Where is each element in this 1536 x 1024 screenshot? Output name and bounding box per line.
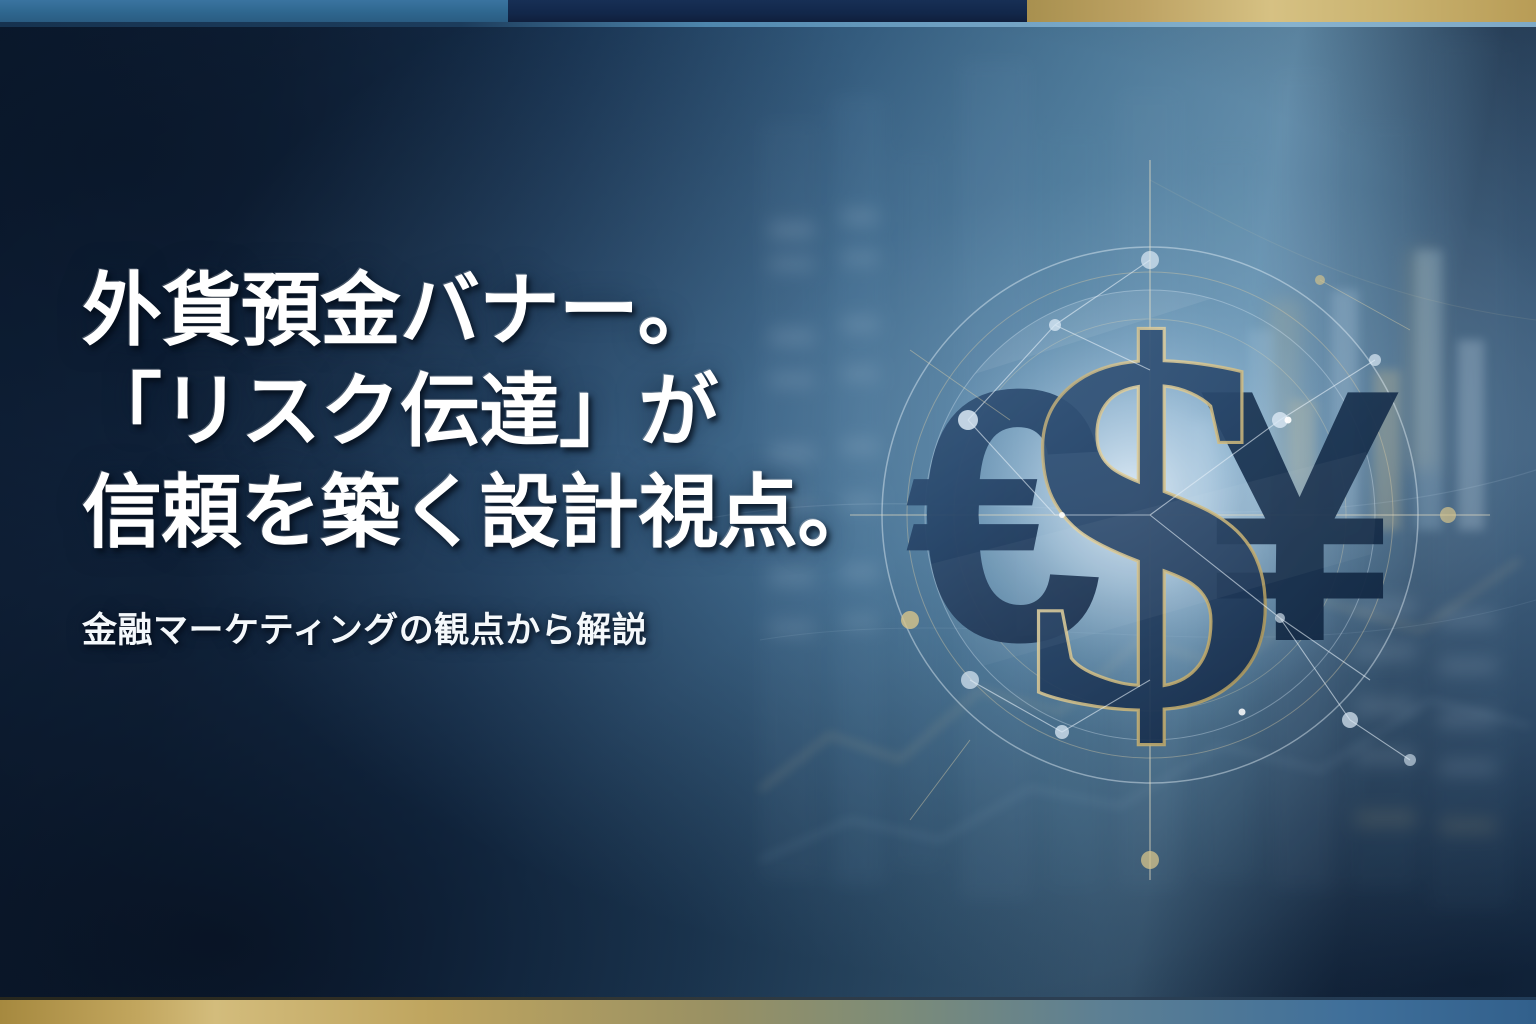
banner-root: € ¥ $ [0, 0, 1536, 1024]
top-accent-bar [0, 0, 1536, 22]
bottom-accent-bar [0, 1000, 1536, 1024]
headline-line-2: 「リスク伝達」が [82, 363, 962, 464]
top-bar-segment-blue [0, 0, 508, 22]
top-bar-segment-gold [1027, 0, 1536, 22]
top-edge-line [0, 22, 1536, 27]
copy-block: 外貨預金バナー。 「リスク伝達」が 信頼を築く設計視点。 金融マーケティングの観… [82, 262, 962, 653]
headline-line-1: 外貨預金バナー。 [82, 262, 962, 363]
top-bar-segment-navy [508, 0, 1027, 22]
headline-line-3: 信頼を築く設計視点。 [82, 464, 962, 565]
subtitle: 金融マーケティングの観点から解説 [82, 602, 962, 653]
page-title: 外貨預金バナー。 「リスク伝達」が 信頼を築く設計視点。 [82, 262, 962, 564]
